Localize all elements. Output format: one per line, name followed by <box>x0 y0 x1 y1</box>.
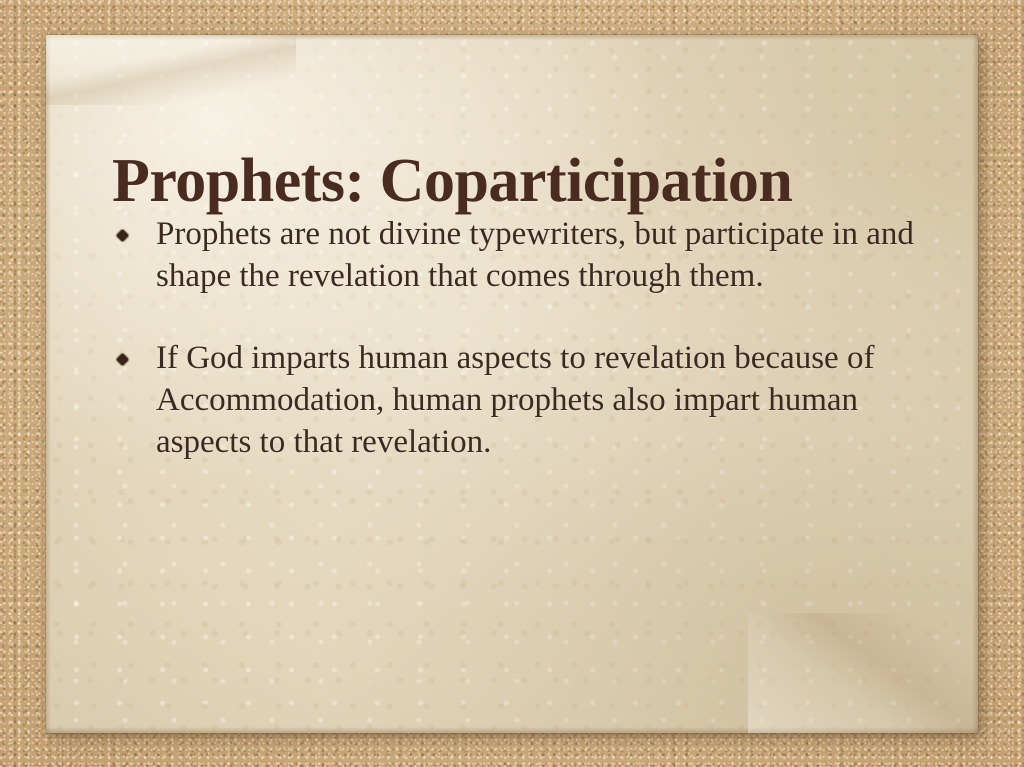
bullet-list: Prophets are not divine typewriters, but… <box>104 213 954 463</box>
slide-title: Prophets: Coparticipation <box>112 149 942 213</box>
presentation-slide: Prophets: Coparticipation Prophets are n… <box>0 0 1024 767</box>
bullet-item: If God imparts human aspects to revelati… <box>104 337 954 463</box>
slide-content: Prophets: Coparticipation Prophets are n… <box>46 35 978 733</box>
bullet-item: Prophets are not divine typewriters, but… <box>104 213 954 297</box>
bullet-item-text: If God imparts human aspects to revelati… <box>156 337 954 463</box>
diamond-bullet-icon <box>116 229 129 242</box>
diamond-bullet-icon <box>116 353 129 366</box>
parchment-paper-sheet: Prophets: Coparticipation Prophets are n… <box>46 35 978 733</box>
bullet-item-text: Prophets are not divine typewriters, but… <box>156 213 954 297</box>
